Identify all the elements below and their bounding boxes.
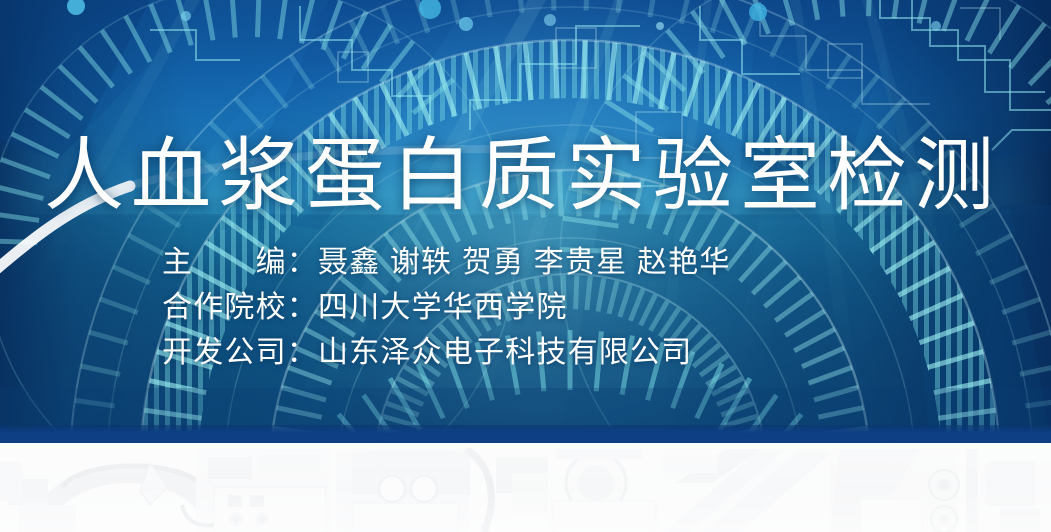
page-title: 人血浆蛋白质实验室检测 — [44, 128, 1001, 224]
credits-block: 主 编：聂鑫 谢轶 贺勇 李贵星 赵艳华 合作院校：四川大学华西学院 开发公司：… — [162, 240, 731, 375]
lab-equipment-photo-strip — [0, 443, 1051, 532]
tech-banner-background: 人血浆蛋白质实验室检测 主 编：聂鑫 谢轶 贺勇 李贵星 赵艳华 合作院校：四川… — [0, 0, 1051, 443]
credit-line-partner-school: 合作院校：四川大学华西学院 — [162, 285, 731, 330]
banner-bottom-navy-bar — [0, 425, 1051, 443]
credit-line-editor: 主 编：聂鑫 谢轶 贺勇 李贵星 赵艳华 — [162, 240, 731, 285]
lab-equipment-illustration — [0, 443, 1051, 532]
credit-line-developer: 开发公司：山东泽众电子科技有限公司 — [162, 330, 731, 375]
cover-slide: 人血浆蛋白质实验室检测 主 编：聂鑫 谢轶 贺勇 李贵星 赵艳华 合作院校：四川… — [0, 0, 1051, 532]
